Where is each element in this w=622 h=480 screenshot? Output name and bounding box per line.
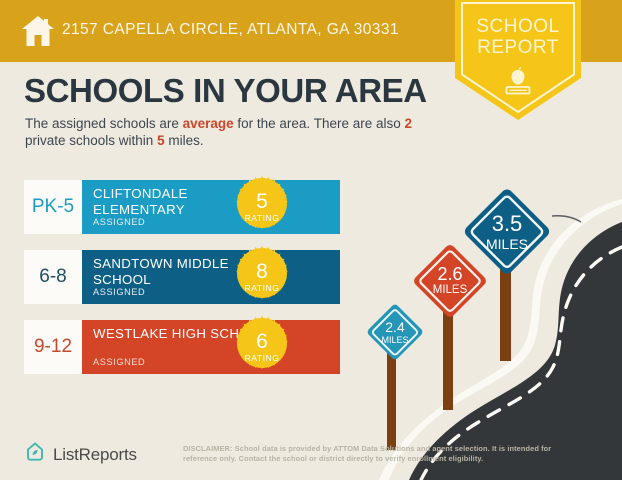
school-row[interactable]: 9-12 WESTLAKE HIGH SCHOOL ASSIGNED 6 RAT… xyxy=(24,320,340,374)
listreports-logo[interactable]: ListReports xyxy=(24,441,137,468)
school-bar: WESTLAKE HIGH SCHOOL ASSIGNED xyxy=(82,320,340,374)
school-bar: SANDTOWN MIDDLE SCHOOL ASSIGNED xyxy=(82,250,340,304)
page-title: SCHOOLS IN YOUR AREA xyxy=(24,72,427,110)
school-status: ASSIGNED xyxy=(93,357,145,367)
summary-highlight-rating: average xyxy=(183,116,234,131)
grade-range-label: PK-5 xyxy=(32,196,74,218)
disclaimer-text: DISCLAIMER: School data is provided by A… xyxy=(183,444,559,464)
school-report-badge: SCHOOL REPORT xyxy=(455,0,581,120)
road-illustration: 3.5 MILES 2.6 MILES 2.4 MILES xyxy=(355,195,622,480)
badge-title: SCHOOL REPORT xyxy=(455,16,581,58)
school-bar: CLIFTONDALE ELEMENTARY ASSIGNED xyxy=(82,180,340,234)
summary-highlight-private-count: 2 xyxy=(405,116,413,131)
school-report-infographic: 2157 CAPELLA CIRCLE, ATLANTA, GA 30331 S… xyxy=(0,0,622,480)
rating-badge: 6 RATING xyxy=(230,315,294,379)
summary-part-4: miles. xyxy=(165,133,204,148)
rating-badge: 5 RATING xyxy=(230,175,294,239)
home-icon xyxy=(20,14,56,48)
rating-badge: 8 RATING xyxy=(230,245,294,309)
school-status: ASSIGNED xyxy=(93,217,145,227)
school-status: ASSIGNED xyxy=(93,287,145,297)
badge-title-line2: REPORT xyxy=(455,37,581,58)
grade-range-box: 6-8 xyxy=(24,250,82,304)
listreports-house-leaf-icon xyxy=(24,441,46,468)
summary-part-2: for the area. There are also xyxy=(234,116,405,131)
rating-label: RATING xyxy=(245,353,280,363)
listreports-logo-text: ListReports xyxy=(53,445,137,465)
school-row[interactable]: PK-5 CLIFTONDALE ELEMENTARY ASSIGNED 5 R… xyxy=(24,180,340,234)
badge-title-line1: SCHOOL xyxy=(455,16,581,37)
rating-value: 6 xyxy=(256,332,268,352)
summary-part-3: private schools within xyxy=(25,133,157,148)
grade-range-label: 9-12 xyxy=(34,336,72,358)
summary-text: The assigned schools are average for the… xyxy=(25,115,445,149)
grade-range-box: PK-5 xyxy=(24,180,82,234)
property-address: 2157 CAPELLA CIRCLE, ATLANTA, GA 30331 xyxy=(62,21,399,39)
rating-value: 5 xyxy=(256,192,268,212)
summary-highlight-radius: 5 xyxy=(157,133,165,148)
grade-range-box: 9-12 xyxy=(24,320,82,374)
summary-part-1: The assigned schools are xyxy=(25,116,183,131)
distance-sign-1: 2.4 MILES xyxy=(363,300,427,364)
rating-label: RATING xyxy=(245,213,280,223)
grade-range-label: 6-8 xyxy=(39,266,66,288)
rating-value: 8 xyxy=(256,262,268,282)
school-row[interactable]: 6-8 SANDTOWN MIDDLE SCHOOL ASSIGNED 8 RA… xyxy=(24,250,340,304)
apple-on-books-icon xyxy=(500,62,536,98)
rating-label: RATING xyxy=(245,283,280,293)
